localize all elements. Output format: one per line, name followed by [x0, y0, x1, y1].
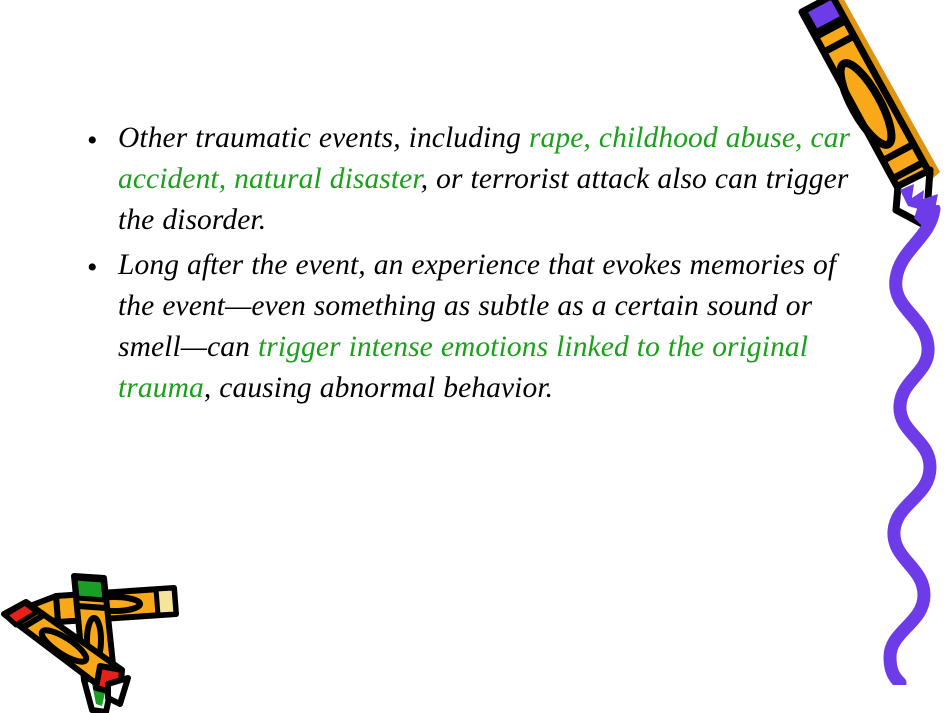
crayon-horizontal-end-wax: [156, 588, 176, 615]
list-item: • Other traumatic events, including rape…: [78, 118, 868, 241]
bullet-marker: •: [78, 118, 118, 156]
crayon-vertical-tip: [84, 674, 114, 712]
crayon-horizontal: [30, 588, 176, 622]
crayon-diagonal-point: [108, 678, 128, 704]
purple-squiggle-icon: [876, 205, 950, 685]
crayon-tip-cone: [896, 170, 930, 226]
list-item: • Long after the event, an experience th…: [78, 245, 868, 409]
bullet-segment-text: Other traumatic events, including: [118, 122, 529, 154]
crayon-band-3: [884, 144, 914, 160]
crayon-vertical-label: [87, 618, 101, 662]
crayon-cluster-icon: [0, 548, 211, 713]
bullet-segment-text: , causing abnormal behavior.: [204, 372, 553, 404]
bullet-text: Long after the event, an experience that…: [118, 245, 868, 409]
crayon-band-1: [814, 18, 844, 34]
crayon-vertical-band: [78, 606, 106, 608]
crayon-vertical-top-wax: [75, 578, 105, 600]
squiggle-path: [890, 209, 934, 683]
crayon-point: [914, 194, 938, 234]
bullet-text: Other traumatic events, including rape, …: [118, 118, 868, 241]
crayon-diagonal-band: [22, 616, 42, 628]
crayon-band-2: [824, 36, 854, 52]
bullet-marker: •: [78, 245, 118, 283]
crayon-diagonal-barrel: [4, 602, 122, 688]
crayon-diagonal-end-wax: [5, 603, 37, 625]
crayon-horizontal-barrel: [56, 588, 176, 622]
crayon-vertical: [74, 576, 114, 712]
crayon-diagonal-label: [38, 625, 90, 667]
crayon-horizontal-tip: [30, 596, 58, 622]
crayon-vertical-tip-wax: [92, 680, 108, 706]
slide-body: • Other traumatic events, including rape…: [78, 118, 868, 413]
crayon-vertical-barrel: [74, 576, 114, 680]
crayon-horizontal-label: [88, 597, 140, 611]
crayon-diagonal: [4, 602, 128, 704]
crayon-diagonal-tip: [96, 666, 122, 694]
crayon-top-wax: [804, 0, 846, 36]
crayon-tip-wax: [900, 184, 924, 210]
slide-canvas: • Other traumatic events, including rape…: [0, 0, 950, 713]
crayon-band-4: [894, 162, 924, 178]
